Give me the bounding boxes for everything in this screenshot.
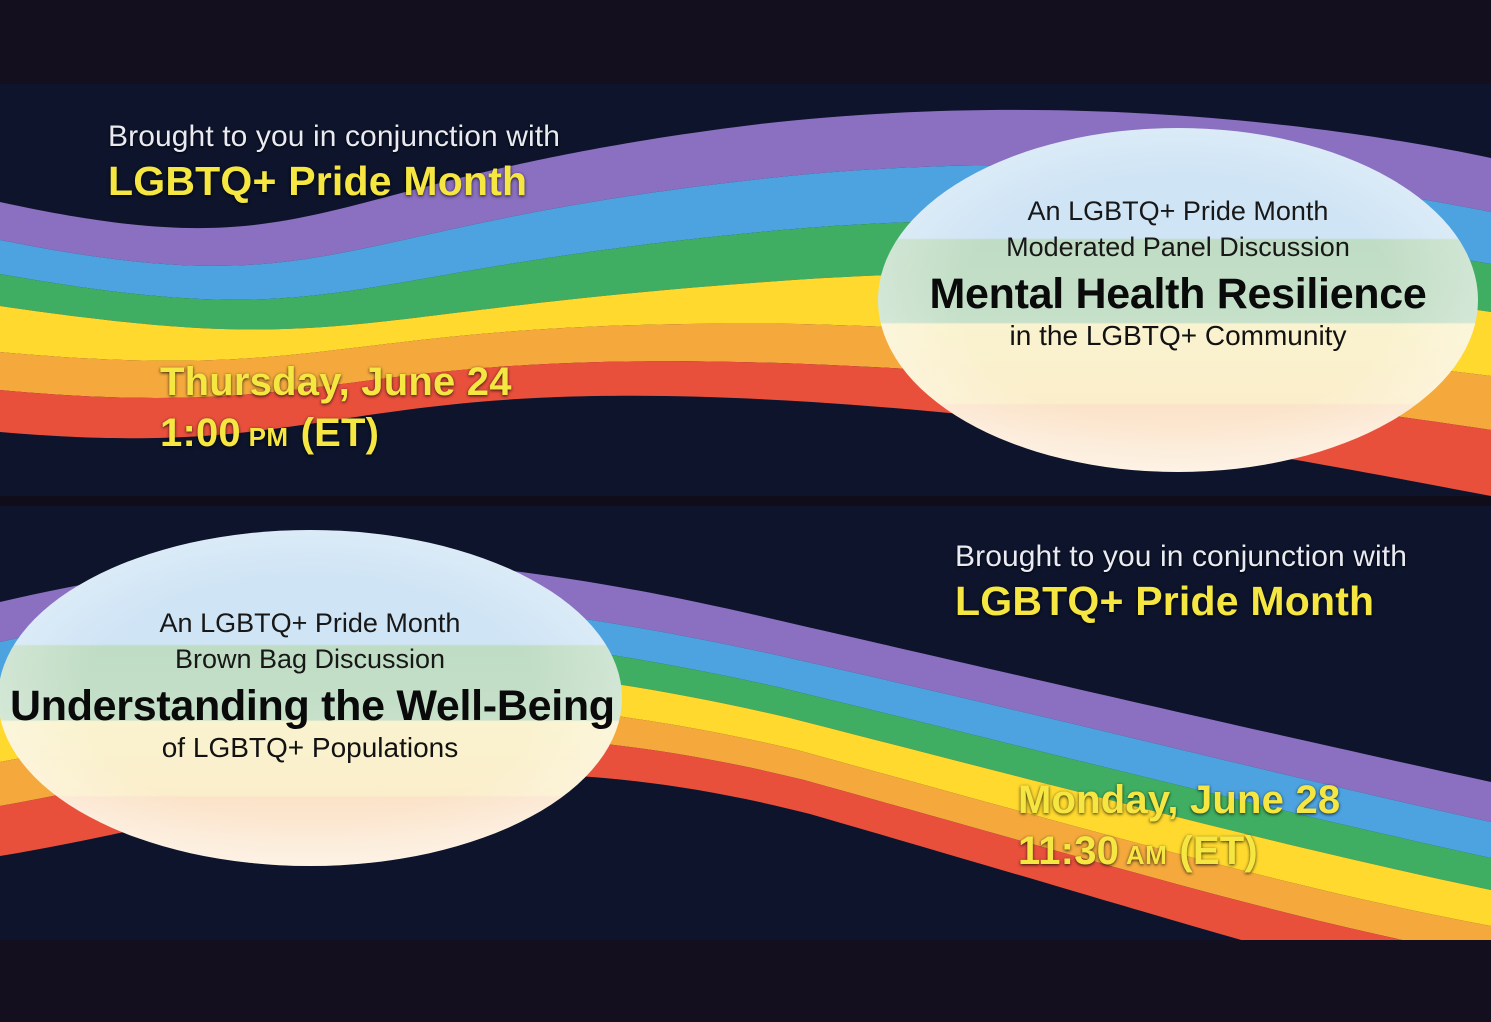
ellipse-subtitle: of LGBTQ+ Populations bbox=[10, 732, 610, 764]
event-time-meridiem: PM bbox=[241, 422, 289, 452]
ellipse-line-2: Brown Bag Discussion bbox=[10, 642, 610, 678]
event-time-value: 1:00 bbox=[160, 411, 241, 455]
brought-to-you-label: Brought to you in conjunction with bbox=[955, 540, 1407, 574]
ellipse-line-1: An LGBTQ+ Pride Month bbox=[10, 606, 610, 642]
event-date: Thursday, June 24 bbox=[160, 360, 512, 405]
event-panel-top: Brought to you in conjunction with LGBTQ… bbox=[0, 84, 1491, 498]
event-time: 11:30 AM(ET) bbox=[1018, 829, 1340, 874]
ellipse-content-top: An LGBTQ+ Pride Month Moderated Panel Di… bbox=[878, 194, 1478, 352]
ellipse-title: Understanding the Well-Being bbox=[10, 682, 610, 731]
banner-stage: Brought to you in conjunction with LGBTQ… bbox=[0, 0, 1491, 1022]
promo-block-bottom: Brought to you in conjunction with LGBTQ… bbox=[955, 540, 1407, 625]
pride-month-heading: LGBTQ+ Pride Month bbox=[955, 579, 1407, 625]
event-panel-bottom: An LGBTQ+ Pride Month Brown Bag Discussi… bbox=[0, 506, 1491, 940]
schedule-block-top: Thursday, June 24 1:00 PM(ET) bbox=[160, 360, 512, 456]
pride-month-heading: LGBTQ+ Pride Month bbox=[108, 159, 560, 205]
ellipse-content-bottom: An LGBTQ+ Pride Month Brown Bag Discussi… bbox=[10, 606, 610, 764]
ellipse-line-2: Moderated Panel Discussion bbox=[878, 230, 1478, 266]
event-timezone: (ET) bbox=[1179, 829, 1258, 873]
event-time-meridiem: AM bbox=[1119, 840, 1167, 870]
ellipse-title: Mental Health Resilience bbox=[878, 270, 1478, 319]
ellipse-subtitle: in the LGBTQ+ Community bbox=[878, 320, 1478, 352]
ellipse-line-1: An LGBTQ+ Pride Month bbox=[878, 194, 1478, 230]
panel-divider bbox=[0, 496, 1491, 506]
event-date: Monday, June 28 bbox=[1018, 778, 1340, 823]
event-timezone: (ET) bbox=[301, 411, 380, 455]
schedule-block-bottom: Monday, June 28 11:30 AM(ET) bbox=[1018, 778, 1340, 874]
event-time: 1:00 PM(ET) bbox=[160, 411, 512, 456]
promo-block-top: Brought to you in conjunction with LGBTQ… bbox=[108, 120, 560, 205]
brought-to-you-label: Brought to you in conjunction with bbox=[108, 120, 560, 154]
event-time-value: 11:30 bbox=[1018, 829, 1119, 873]
